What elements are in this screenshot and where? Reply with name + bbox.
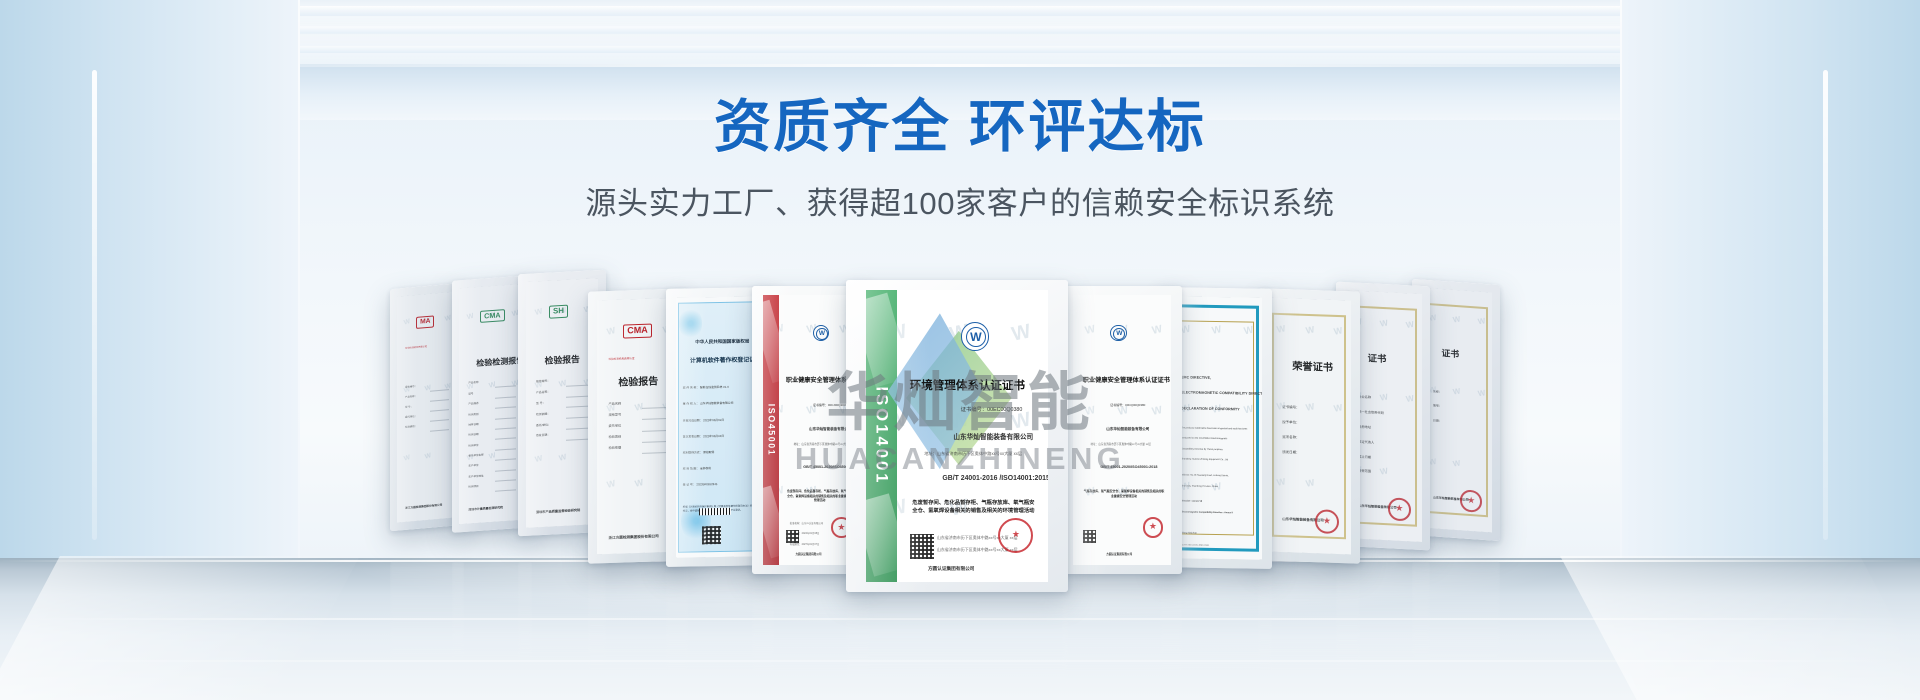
emblem-letter: W xyxy=(966,327,986,347)
certificate-frame[interactable]: WWWWWWWW荣誉证书证书编号：授予单位：奖项名称：颁发日期：山东华灿智能装备… xyxy=(1258,288,1360,564)
certificate-reflection xyxy=(1160,561,1272,679)
official-seal-icon xyxy=(998,518,1033,553)
frame-highlight xyxy=(846,280,930,592)
certificate-frame[interactable]: WWWWWWWWW职业健康安全管理体系认证证书证书编号：00CQ00Q0380山… xyxy=(1062,286,1182,574)
frame-highlight xyxy=(518,273,551,537)
page-title: 资质齐全 环评达标 xyxy=(0,96,1920,160)
qualification-banner: 资质齐全 环评达标 源头实力工厂、获得超100家客户的信赖安全标识系统 WWWW… xyxy=(0,0,1920,700)
frame-highlight xyxy=(588,290,626,563)
certificate-address: 地址：山东省济南市历下区奥体中路xx号xx大厦 xx层 xyxy=(924,451,1022,457)
page-subtitle: 源头实力工厂、获得超100家客户的信赖安全标识系统 xyxy=(0,178,1920,223)
frame-highlight xyxy=(752,286,797,574)
banner-headline-group: 资质齐全 环评达标 源头实力工厂、获得超100家客户的信赖安全标识系统 xyxy=(0,96,1920,223)
certificate-reflection xyxy=(1412,561,1500,669)
certificate-standard: GB/T 24001-2016 /ISO14001:2015 xyxy=(942,474,1048,484)
certificate-number: 证书编号：00EC00Q0380 xyxy=(961,407,1023,415)
certificate-issuing-org: 方圆认证集团有限公司 xyxy=(928,566,975,573)
cnas-emblem-icon: W xyxy=(961,322,990,351)
frame-highlight xyxy=(666,288,707,567)
frame-highlight xyxy=(390,287,418,531)
certificate-frame[interactable]: WWWWWWWWISO14001W环境管理体系认证证书证书编号：00EC00Q0… xyxy=(846,280,1068,592)
frame-highlight xyxy=(1062,286,1108,574)
frame-highlight xyxy=(452,279,482,533)
paper-watermark-w: W xyxy=(1009,318,1034,351)
certificate-company: 山东华灿智能装备有限公司 xyxy=(953,433,1033,443)
